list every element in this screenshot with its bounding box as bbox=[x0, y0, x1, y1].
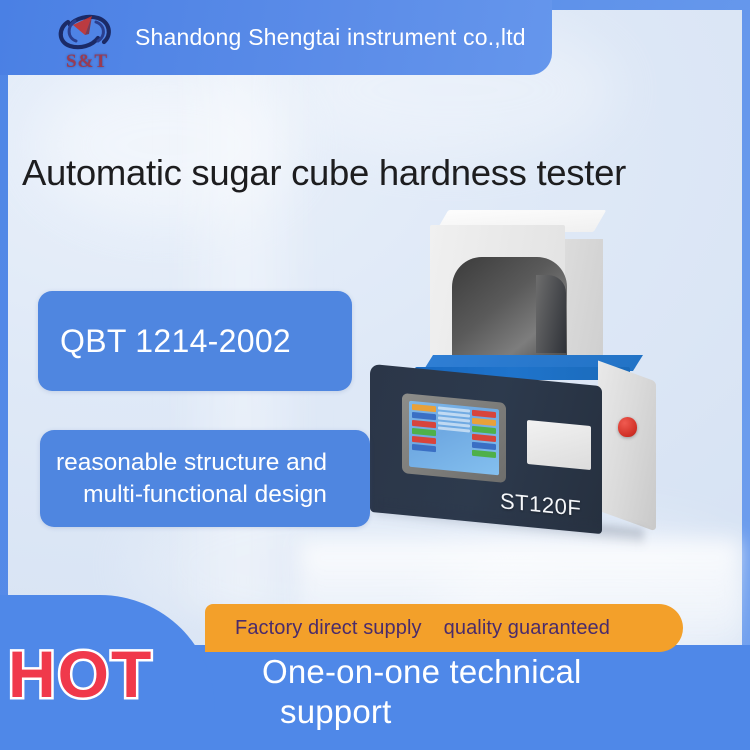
chamber-side-face bbox=[565, 239, 603, 371]
standard-badge-label: QBT 1214-2002 bbox=[60, 323, 291, 360]
screen-readout-line bbox=[438, 426, 471, 432]
screen-button-column bbox=[472, 410, 496, 472]
description-line-1: reasonable structure and bbox=[56, 447, 327, 478]
promo-banner: Factory direct supplyquality guaranteed bbox=[205, 604, 683, 652]
screen-button bbox=[472, 410, 496, 418]
chamber-cavity-inner bbox=[536, 275, 566, 353]
support-text: One-on-one technical support bbox=[262, 652, 732, 733]
screen-button bbox=[472, 418, 496, 426]
screen-button-column bbox=[412, 404, 436, 466]
screen-button bbox=[412, 404, 436, 412]
promo-banner-text: Factory direct supplyquality guaranteed bbox=[235, 617, 610, 640]
promo-left-label: Factory direct supply bbox=[235, 617, 422, 639]
hot-badge: HOT bbox=[8, 636, 153, 712]
screen-button bbox=[472, 450, 496, 458]
company-name: Shandong Shengtai instrument co.,ltd bbox=[135, 24, 526, 51]
machine-body-side bbox=[598, 360, 656, 531]
panel-label-plate bbox=[527, 420, 591, 470]
screen-button bbox=[412, 420, 436, 428]
screen-button bbox=[472, 426, 496, 434]
company-logo: S&T bbox=[48, 8, 126, 72]
support-line-1: One-on-one technical bbox=[262, 653, 582, 690]
emergency-stop-button[interactable] bbox=[618, 417, 637, 437]
screen-button bbox=[472, 442, 496, 450]
hmi-screen-bezel bbox=[402, 393, 506, 483]
support-line-2: support bbox=[262, 692, 732, 732]
description-badge: reasonable structure and multi-functiona… bbox=[40, 430, 370, 527]
screen-button bbox=[412, 436, 436, 444]
logo-text: S&T bbox=[48, 51, 126, 73]
standard-badge: QBT 1214-2002 bbox=[38, 291, 352, 391]
description-line-2: multi-functional design bbox=[83, 479, 327, 510]
hmi-touchscreen[interactable] bbox=[409, 401, 499, 476]
promo-right-label: quality guaranteed bbox=[444, 617, 610, 639]
screen-button bbox=[412, 428, 436, 436]
screen-readout-column bbox=[438, 406, 471, 469]
product-poster: S&T Shandong Shengtai instrument co.,ltd… bbox=[0, 0, 750, 750]
page-title: Automatic sugar cube hardness tester bbox=[22, 152, 728, 194]
machine-illustration: ST120F bbox=[360, 195, 690, 565]
screen-button bbox=[412, 444, 436, 452]
screen-button bbox=[412, 412, 436, 420]
screen-button bbox=[472, 434, 496, 442]
